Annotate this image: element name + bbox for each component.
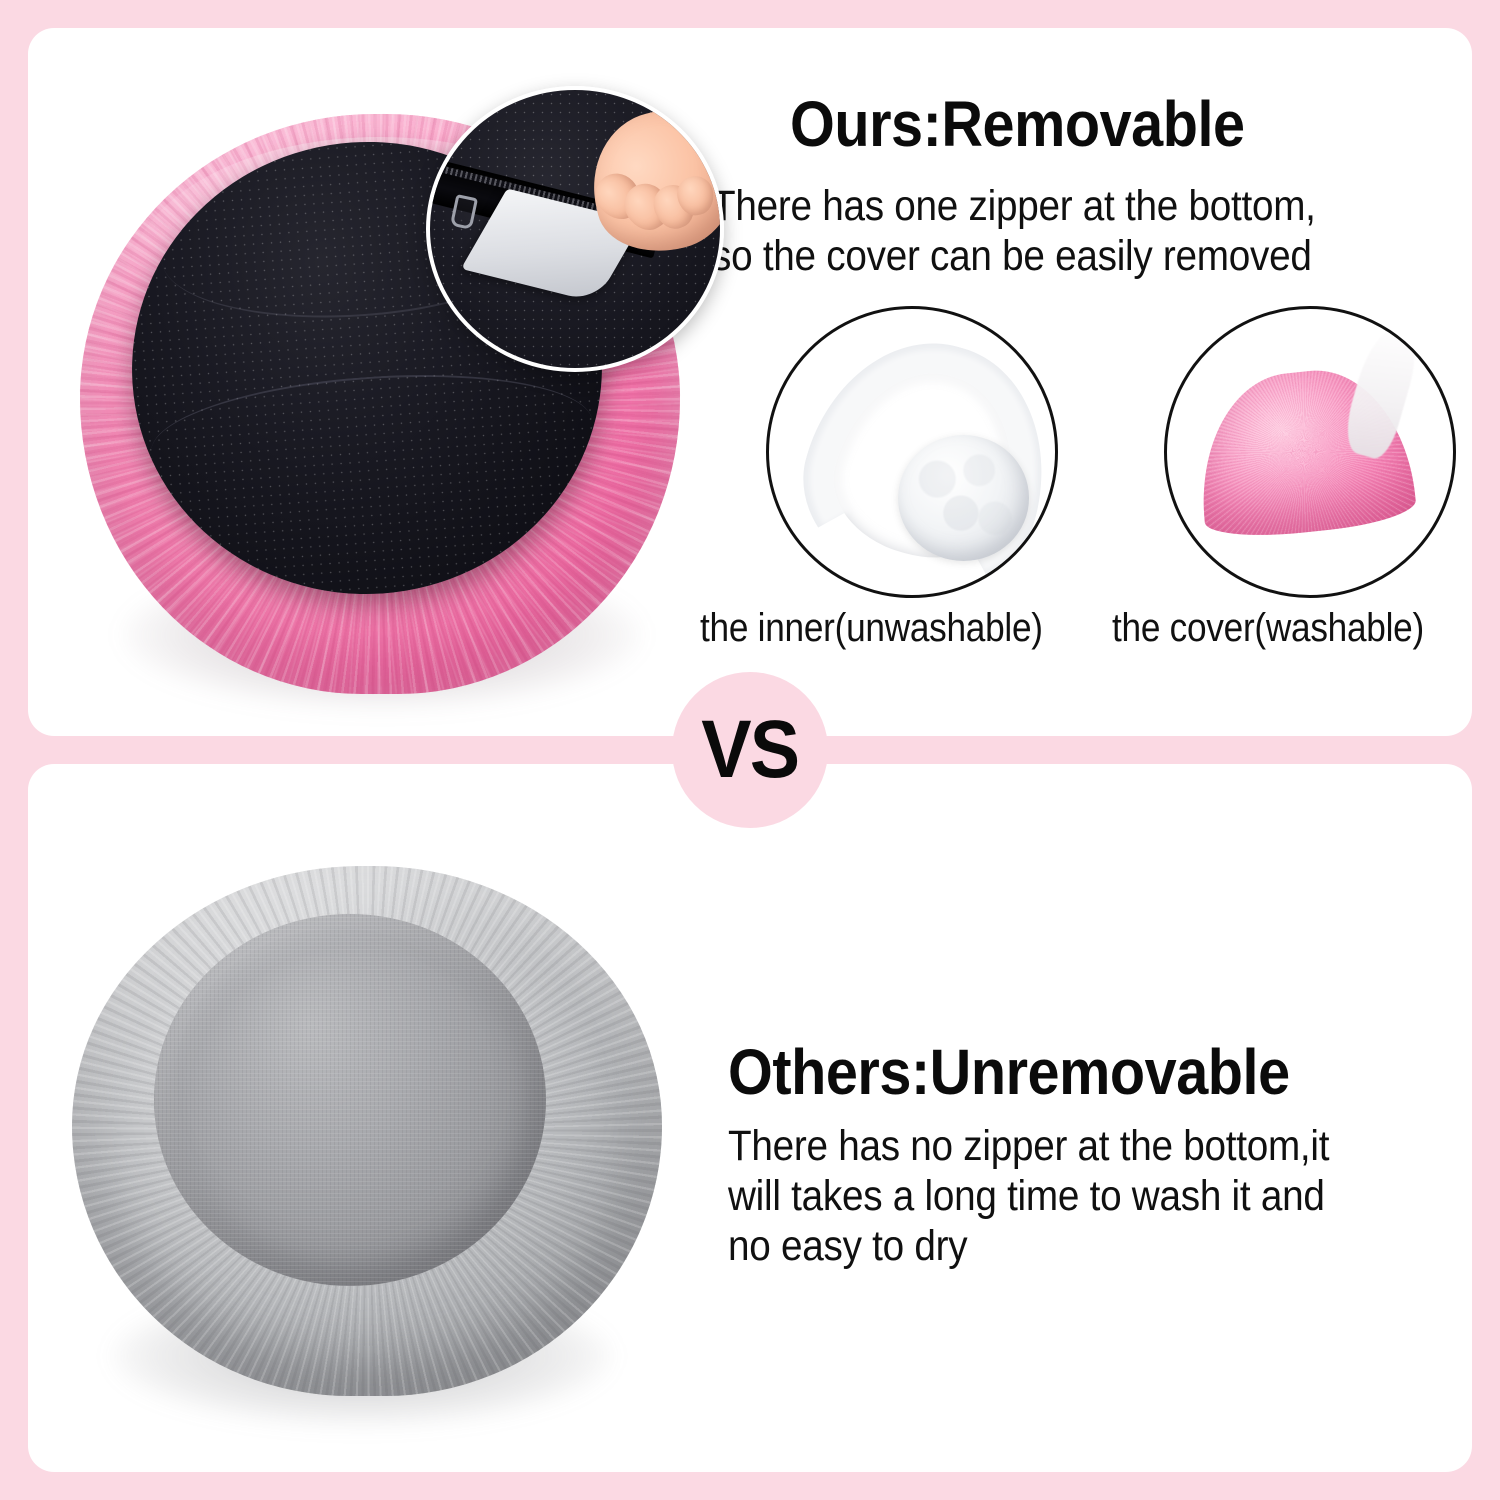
- gray-bed-sewn-cushion: [154, 914, 546, 1286]
- body-others-line-3: no easy to dry: [728, 1222, 1329, 1272]
- headline-others: Others:Unremovable: [728, 1040, 1290, 1105]
- cushion-pad-texture: [898, 435, 1030, 561]
- inset-cover-washable: [1164, 306, 1456, 598]
- caption-cover-washable: the cover(washable): [1112, 606, 1424, 650]
- panel-others: [28, 764, 1472, 1472]
- body-others-line-2: will takes a long time to wash it and: [728, 1172, 1329, 1222]
- product-photo-gray-bed: [62, 856, 682, 1446]
- round-cushion-pad: [898, 435, 1030, 561]
- caption-inner-unwashable: the inner(unwashable): [700, 606, 1043, 650]
- body-others-line-1: There has no zipper at the bottom,it: [728, 1122, 1329, 1172]
- body-others: There has no zipper at the bottom,it wil…: [728, 1122, 1329, 1272]
- infographic-canvas: Ours:Removable There has one zipper at t…: [0, 0, 1500, 1500]
- zipper-closeup-inset: [426, 86, 724, 372]
- body-ours: There has one zipper at the bottom, so t…: [712, 182, 1316, 282]
- vs-label: VS: [702, 709, 799, 791]
- headline-ours: Ours:Removable: [790, 92, 1245, 157]
- cushion-weave-texture: [154, 914, 546, 1286]
- inset-inner-unwashable: [766, 306, 1058, 598]
- vs-badge: VS: [672, 672, 828, 828]
- body-ours-line-1: There has one zipper at the bottom,: [712, 182, 1316, 232]
- body-ours-line-2: so the cover can be easily removed: [712, 232, 1316, 282]
